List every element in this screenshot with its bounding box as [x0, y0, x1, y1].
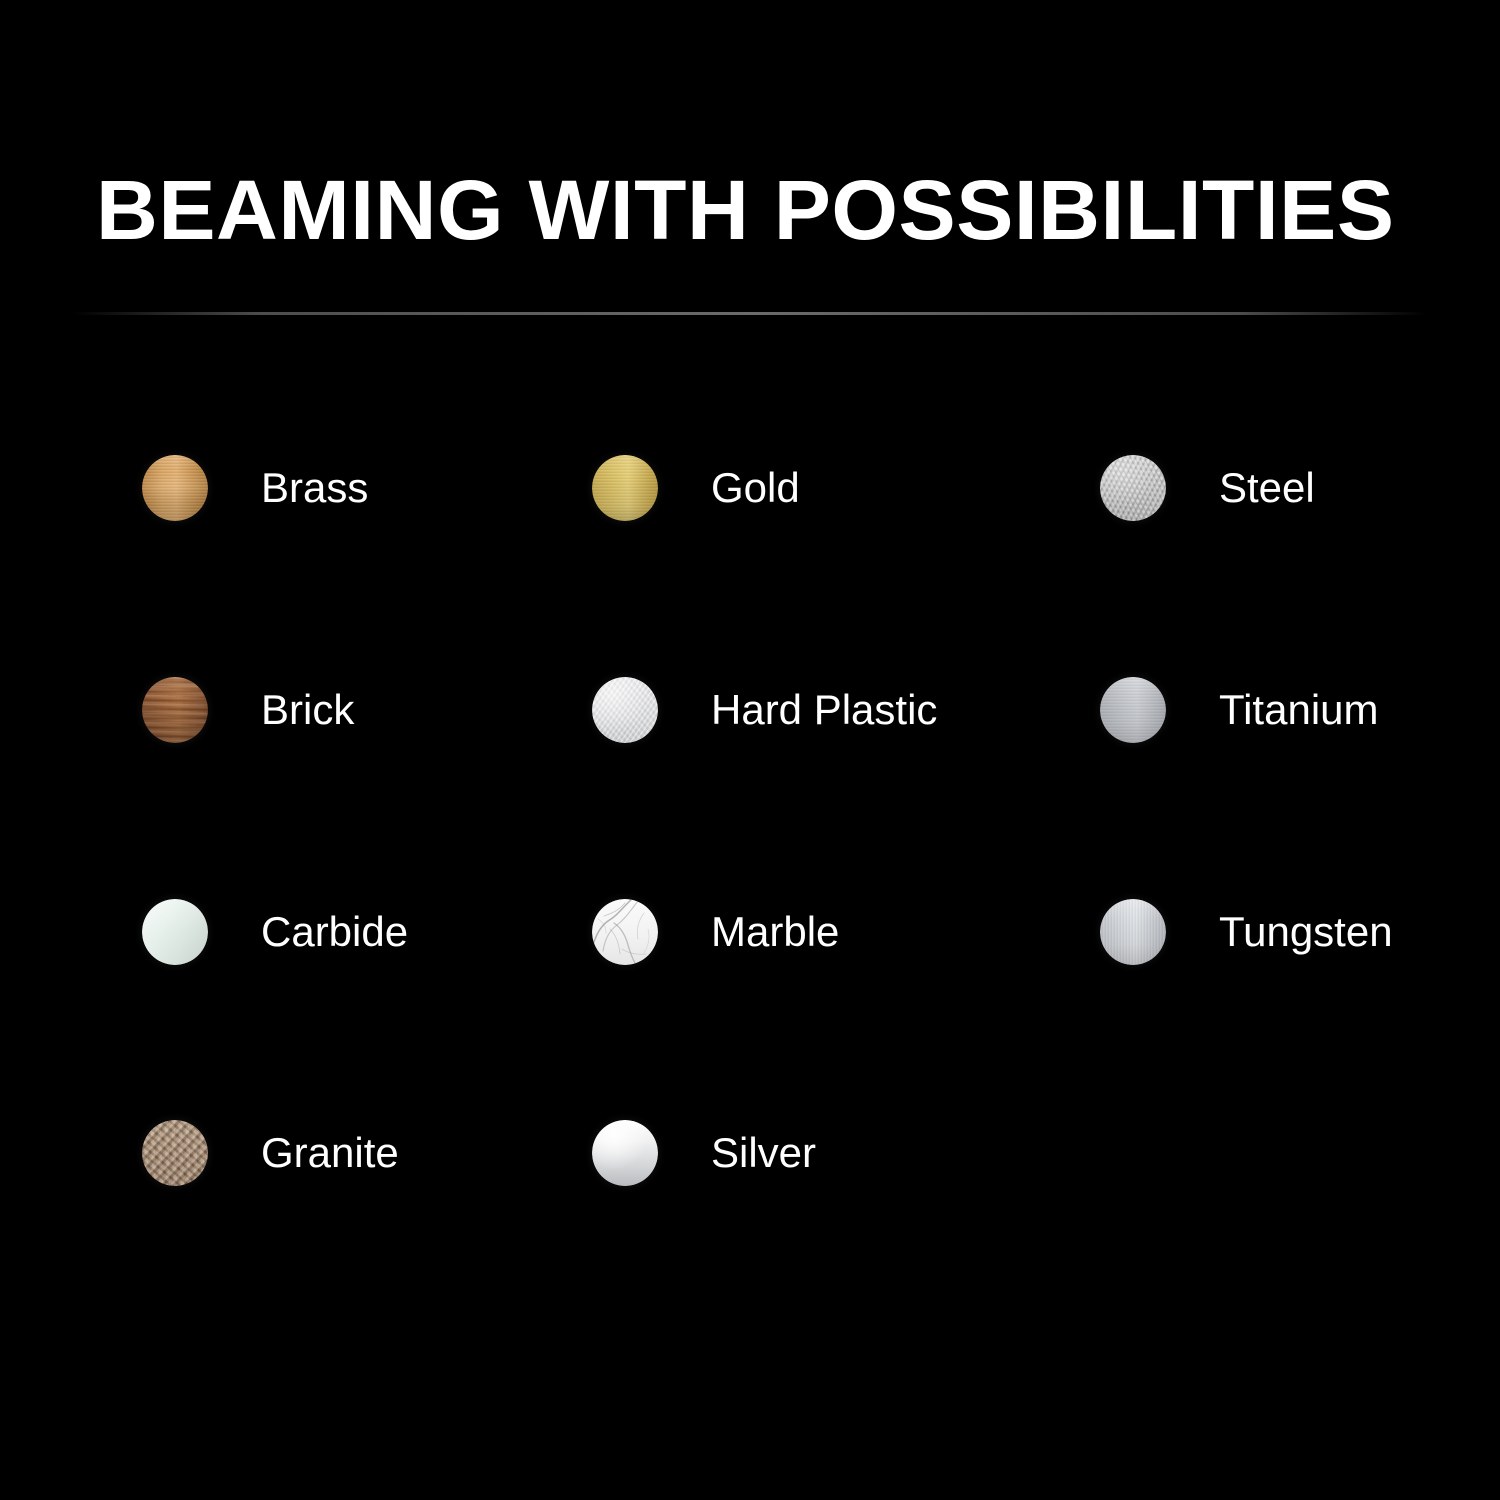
material-option-hard-plastic[interactable]: Hard Plastic [592, 673, 937, 747]
tungsten-swatch-icon[interactable] [1100, 899, 1166, 965]
marble-swatch-icon[interactable] [592, 899, 658, 965]
material-label: Titanium [1219, 689, 1379, 731]
material-label: Tungsten [1219, 911, 1393, 953]
material-option-carbide[interactable]: Carbide [142, 895, 408, 969]
material-label: Carbide [261, 911, 408, 953]
material-option-silver[interactable]: Silver [592, 1116, 816, 1190]
material-option-brick[interactable]: Brick [142, 673, 354, 747]
material-option-brass[interactable]: Brass [142, 451, 368, 525]
material-label: Granite [261, 1132, 399, 1174]
material-label: Marble [711, 911, 839, 953]
gold-swatch-icon[interactable] [592, 455, 658, 521]
material-label: Hard Plastic [711, 689, 937, 731]
material-option-titanium[interactable]: Titanium [1100, 673, 1379, 747]
carbide-swatch-icon[interactable] [142, 899, 208, 965]
hard-plastic-swatch-icon[interactable] [592, 677, 658, 743]
brick-swatch-icon[interactable] [142, 677, 208, 743]
material-option-gold[interactable]: Gold [592, 451, 800, 525]
material-label: Brass [261, 467, 368, 509]
titanium-swatch-icon[interactable] [1100, 677, 1166, 743]
material-palette-page: BEAMING WITH POSSIBILITIES Brass Gold St… [0, 0, 1500, 1500]
steel-swatch-icon[interactable] [1100, 455, 1166, 521]
material-option-marble[interactable]: Marble [592, 895, 839, 969]
material-label: Steel [1219, 467, 1315, 509]
material-label: Silver [711, 1132, 816, 1174]
granite-swatch-icon[interactable] [142, 1120, 208, 1186]
material-option-steel[interactable]: Steel [1100, 451, 1315, 525]
brass-swatch-icon[interactable] [142, 455, 208, 521]
material-option-granite[interactable]: Granite [142, 1116, 399, 1190]
silver-swatch-icon[interactable] [592, 1120, 658, 1186]
material-label: Gold [711, 467, 800, 509]
material-swatch-grid: Brass Gold Steel Brick Hard Plastic [0, 0, 1500, 1500]
material-option-tungsten[interactable]: Tungsten [1100, 895, 1393, 969]
material-label: Brick [261, 689, 354, 731]
